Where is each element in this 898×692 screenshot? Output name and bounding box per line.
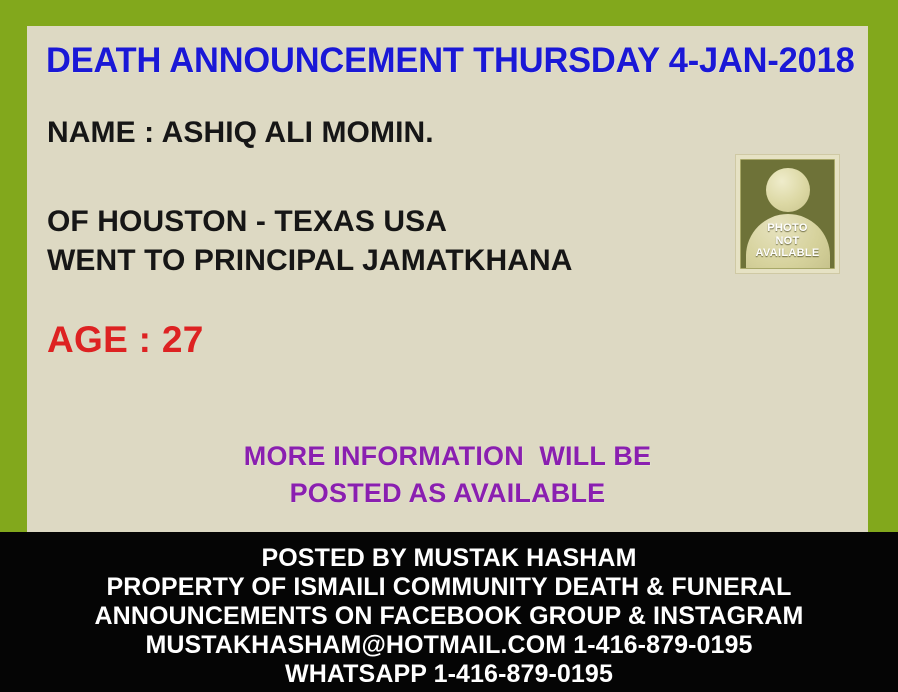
photo-text-line-3: AVAILABLE bbox=[741, 247, 834, 260]
photo-text-line-1: PHOTO bbox=[741, 222, 834, 235]
notice-line-1: MORE INFORMATION WILL BE bbox=[27, 438, 868, 475]
footer-property-line: PROPERTY OF ISMAILI COMMUNITY DEATH & FU… bbox=[0, 573, 898, 602]
footer-announcements-line: ANNOUNCEMENTS ON FACEBOOK GROUP & INSTAG… bbox=[0, 602, 898, 631]
footer-email-phone: MUSTAKHASHAM@HOTMAIL.COM 1-416-879-0195 bbox=[0, 631, 898, 660]
person-silhouette-icon bbox=[766, 168, 810, 212]
deceased-city-line: OF HOUSTON - TEXAS USA bbox=[47, 203, 447, 241]
death-announcement-poster: DEATH ANNOUNCEMENT THURSDAY 4-JAN-2018 N… bbox=[0, 0, 898, 692]
photo-placeholder-text: PHOTO NOT AVAILABLE bbox=[741, 222, 834, 260]
announcement-card: DEATH ANNOUNCEMENT THURSDAY 4-JAN-2018 N… bbox=[27, 26, 868, 532]
deceased-age-line: AGE : 27 bbox=[47, 317, 204, 363]
footer-posted-by: POSTED BY MUSTAK HASHAM bbox=[0, 532, 898, 573]
more-information-notice: MORE INFORMATION WILL BE POSTED AS AVAIL… bbox=[27, 438, 868, 512]
photo-placeholder: PHOTO NOT AVAILABLE bbox=[735, 154, 840, 274]
page-title: DEATH ANNOUNCEMENT THURSDAY 4-JAN-2018 bbox=[46, 39, 844, 83]
green-border-frame: DEATH ANNOUNCEMENT THURSDAY 4-JAN-2018 N… bbox=[0, 0, 898, 532]
jamatkhana-line: WENT TO PRINCIPAL JAMATKHANA bbox=[47, 242, 573, 280]
photo-text-line-2: NOT bbox=[741, 235, 834, 248]
notice-line-2: POSTED AS AVAILABLE bbox=[27, 475, 868, 512]
footer-banner: POSTED BY MUSTAK HASHAM PROPERTY OF ISMA… bbox=[0, 532, 898, 692]
footer-whatsapp: WHATSAPP 1-416-879-0195 bbox=[0, 660, 898, 689]
photo-placeholder-inner: PHOTO NOT AVAILABLE bbox=[740, 159, 835, 269]
deceased-name-line: NAME : ASHIQ ALI MOMIN. bbox=[47, 114, 434, 152]
